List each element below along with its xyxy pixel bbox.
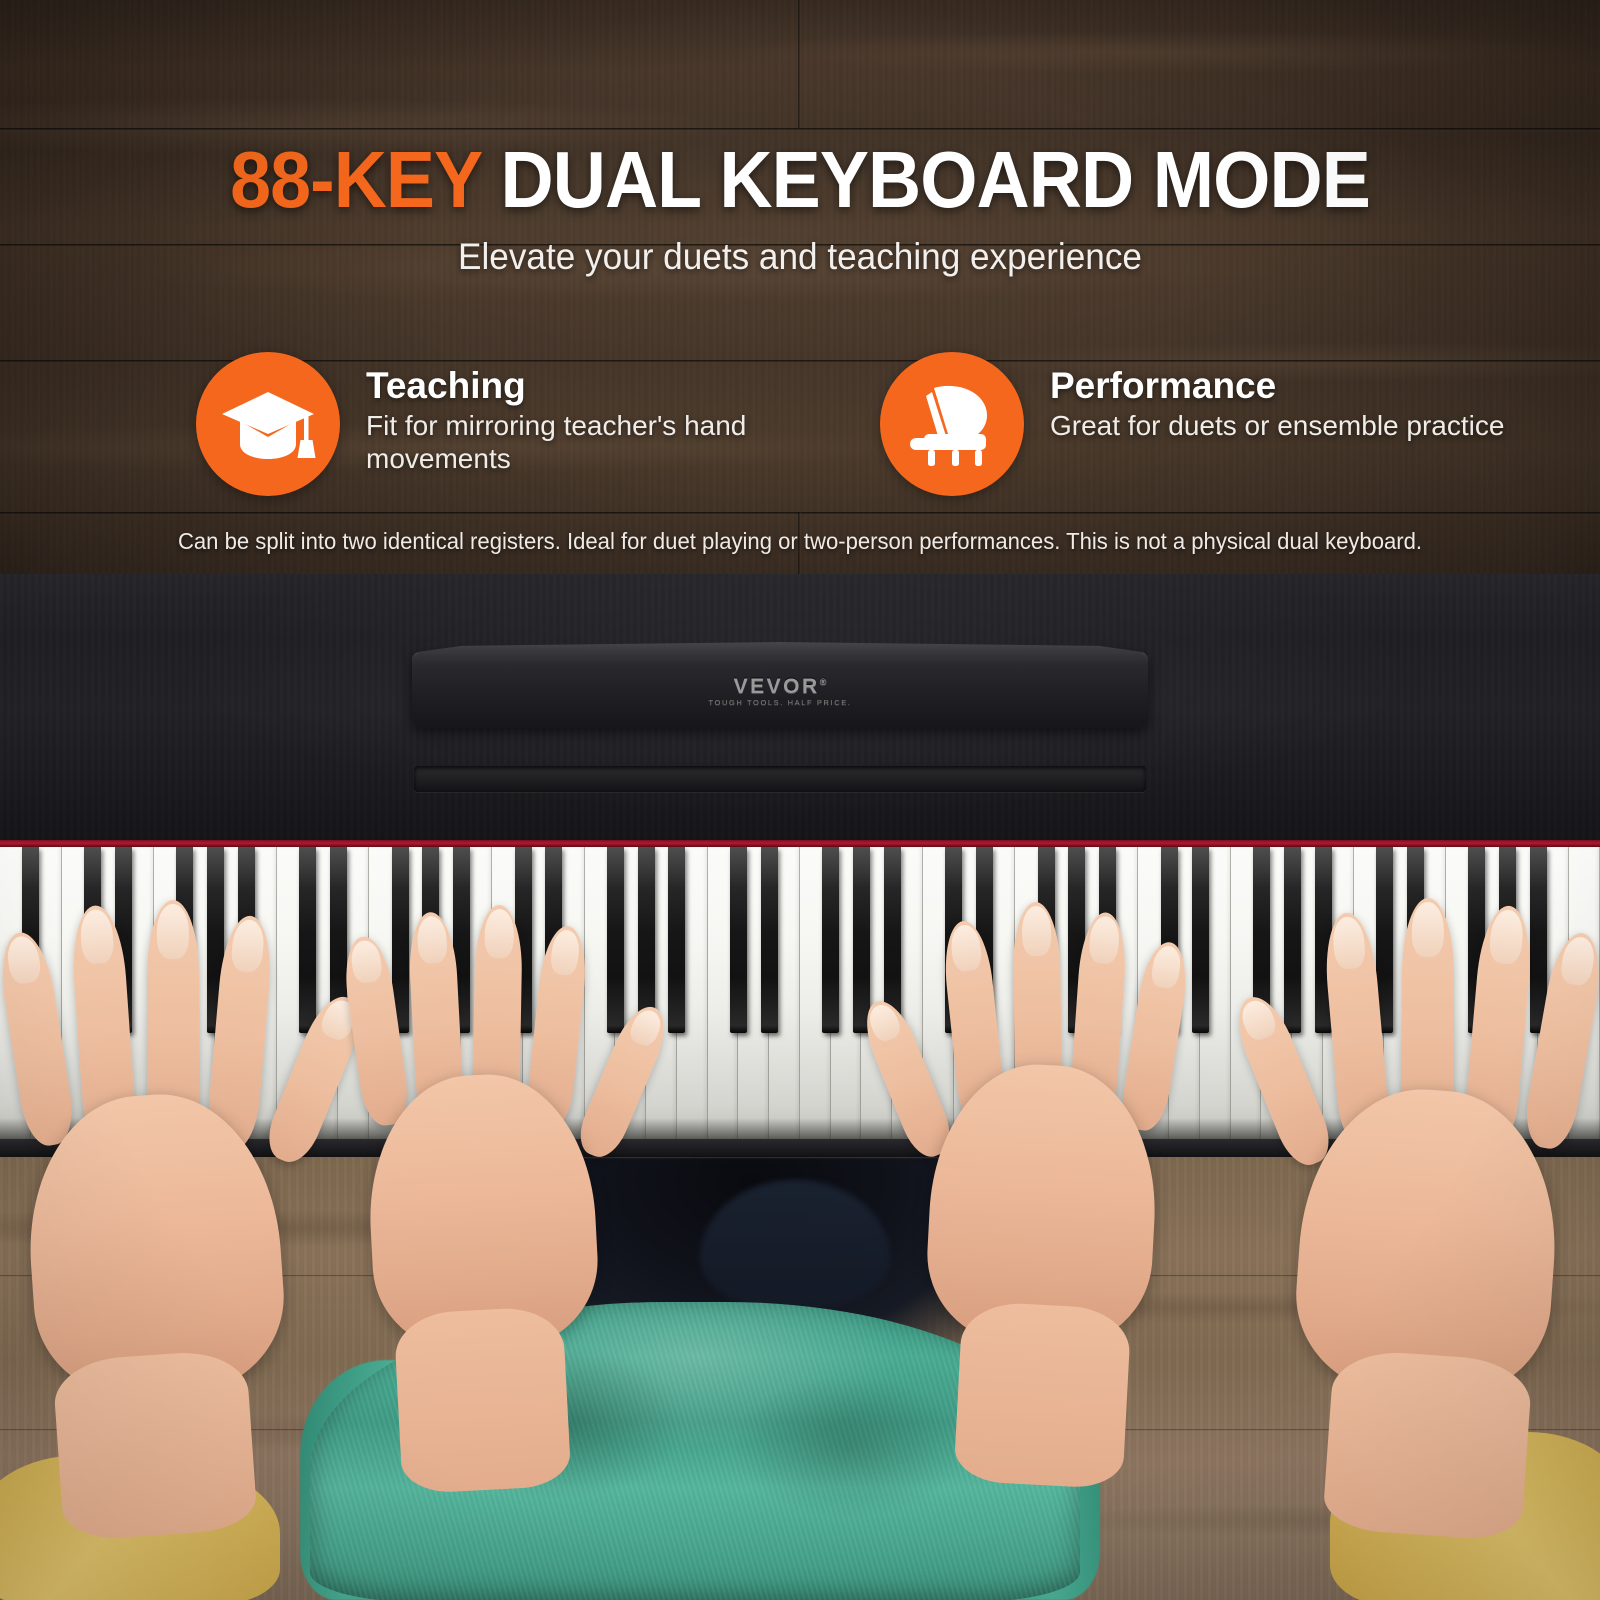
finger <box>856 994 959 1163</box>
fingernail <box>349 939 383 984</box>
fingernail <box>1412 902 1444 957</box>
fingernail <box>484 909 514 958</box>
fingernail <box>157 904 189 959</box>
fingernail <box>949 924 982 973</box>
hands-layer <box>0 0 1600 1600</box>
fingernail <box>1088 916 1120 965</box>
fingernail <box>230 919 265 973</box>
fingernail <box>1021 906 1051 956</box>
finger <box>572 999 675 1163</box>
finger <box>1118 939 1192 1134</box>
fingernail <box>79 908 115 964</box>
fingernail <box>1149 944 1183 990</box>
finger <box>1520 929 1600 1152</box>
wrist <box>393 1306 571 1495</box>
fingernail <box>1559 935 1598 988</box>
wrist <box>52 1348 258 1541</box>
fingernail <box>1331 916 1366 971</box>
fingernail <box>865 1001 904 1045</box>
fingernail <box>416 916 448 965</box>
finger <box>0 929 78 1149</box>
wrist <box>1322 1348 1533 1541</box>
fingernail <box>627 1006 666 1049</box>
wrist <box>953 1301 1131 1490</box>
fingernail <box>5 934 43 986</box>
product-feature-banner: 88-KEY DUAL KEYBOARD MODE Elevate your d… <box>0 0 1600 1600</box>
fingernail <box>1237 996 1279 1043</box>
fingernail <box>549 929 581 977</box>
fingernail <box>1488 909 1525 965</box>
finger <box>1227 989 1338 1172</box>
